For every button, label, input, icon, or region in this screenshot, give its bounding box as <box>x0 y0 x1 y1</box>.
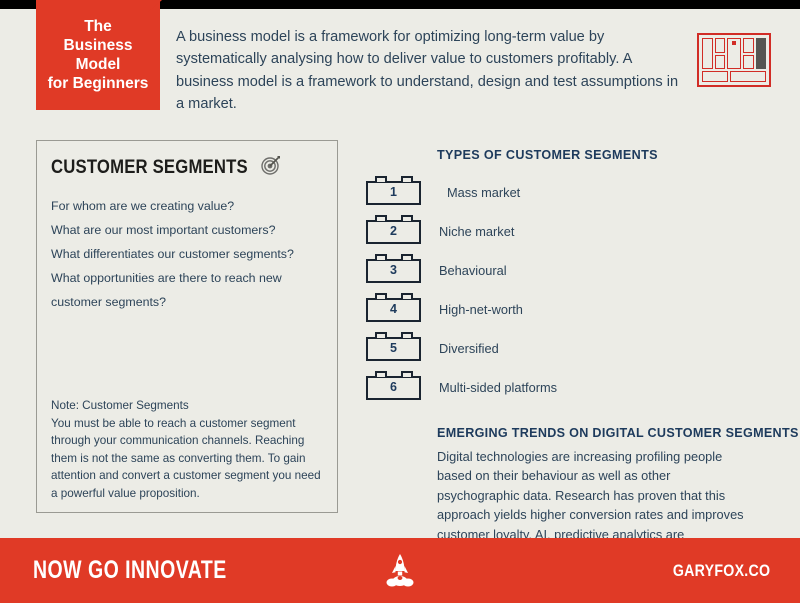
brick-stud-right <box>401 371 413 377</box>
question-item: For whom are we creating value? <box>51 194 323 218</box>
canvas-cell-revenue-streams <box>730 71 766 82</box>
title-flag-banner: The Business Model for Beginners <box>36 0 160 110</box>
business-model-canvas-icon <box>697 33 771 87</box>
canvas-cell-key-partners <box>702 38 713 69</box>
rocket-icon <box>380 552 420 590</box>
types-section-heading: TYPES OF CUSTOMER SEGMENTS <box>437 148 658 162</box>
brick-number: 6 <box>390 381 397 394</box>
brick-label: Diversified <box>439 341 499 356</box>
brick-number: 3 <box>390 264 397 277</box>
customer-segments-panel: CUSTOMER SEGMENTS For whom are we creati… <box>36 140 338 513</box>
title-flag-text: The Business Model for Beginners <box>40 17 157 93</box>
brick-label: Mass market <box>447 185 520 200</box>
list-item: 5 Diversified <box>366 329 766 368</box>
brick-stud-left <box>375 332 387 338</box>
brick-stud-left <box>375 176 387 182</box>
lego-brick-icon: 6 <box>366 376 421 400</box>
brick-stud-right <box>401 254 413 260</box>
lego-brick-icon: 1 <box>366 181 421 205</box>
canvas-mini-bar <box>732 41 736 45</box>
list-item: 2 Niche market <box>366 212 766 251</box>
page-title: CUSTOMER SEGMENTS <box>51 157 248 179</box>
brick-stud-right <box>401 293 413 299</box>
brick-number: 4 <box>390 303 397 316</box>
canvas-cell-value-proposition <box>727 38 741 69</box>
lego-brick-icon: 2 <box>366 220 421 244</box>
brick-stud-left <box>375 371 387 377</box>
panel-spacer <box>51 314 323 397</box>
target-dartboard-icon <box>261 155 281 180</box>
list-item: 1 Mass market <box>366 173 766 212</box>
lego-brick-icon: 4 <box>366 298 421 322</box>
types-brick-list: 1 Mass market 2 Niche market 3 Behaviour… <box>366 173 766 407</box>
canvas-cell-channels <box>743 55 753 70</box>
brick-stud-left <box>375 215 387 221</box>
list-item: 6 Multi-sided platforms <box>366 368 766 407</box>
brick-label: Behavioural <box>439 263 507 278</box>
brick-stud-right <box>401 215 413 221</box>
canvas-cell-customer-segments <box>756 38 766 69</box>
customer-segments-note: Note: Customer Segments You must be able… <box>51 397 323 502</box>
title-line-4: for Beginners <box>48 74 149 93</box>
footer-tagline: NOW GO INNOVATE <box>33 556 227 585</box>
lego-brick-icon: 3 <box>366 259 421 283</box>
note-body: You must be able to reach a customer seg… <box>51 417 321 500</box>
customer-segments-question-list: For whom are we creating value? What are… <box>51 194 323 314</box>
question-item: What differentiates our customer segment… <box>51 242 323 266</box>
canvas-cell-customer-relationships <box>743 38 753 53</box>
title-line-2: Business <box>48 36 149 55</box>
footer-website: GARYFOX.CO <box>673 562 770 581</box>
trends-section-heading: EMERGING TRENDS ON DIGITAL CUSTOMER SEGM… <box>437 426 799 440</box>
note-heading: Note: Customer Segments <box>51 397 323 415</box>
canvas-cell-cost-structure <box>702 71 728 82</box>
canvas-cell-key-activities <box>715 38 725 53</box>
question-item: What opportunities are there to reach ne… <box>51 266 323 314</box>
lego-brick-icon: 5 <box>366 337 421 361</box>
brick-number: 1 <box>390 186 397 199</box>
title-line-3: Model <box>48 55 149 74</box>
question-item: What are our most important customers? <box>51 218 323 242</box>
brick-number: 2 <box>390 225 397 238</box>
customer-segments-title-row: CUSTOMER SEGMENTS <box>51 155 323 180</box>
brick-stud-right <box>401 332 413 338</box>
canvas-col-activities <box>715 38 725 69</box>
canvas-cell-key-resources <box>715 55 725 70</box>
list-item: 3 Behavioural <box>366 251 766 290</box>
brick-stud-left <box>375 293 387 299</box>
brick-label: Niche market <box>439 224 514 239</box>
brick-label: High-net-worth <box>439 302 523 317</box>
brick-stud-left <box>375 254 387 260</box>
canvas-col-relationships <box>743 38 753 69</box>
brick-stud-right <box>401 176 413 182</box>
list-item: 4 High-net-worth <box>366 290 766 329</box>
brick-number: 5 <box>390 342 397 355</box>
title-line-1: The <box>48 17 149 36</box>
brick-label: Multi-sided platforms <box>439 380 557 395</box>
intro-paragraph: A business model is a framework for opti… <box>176 26 686 115</box>
